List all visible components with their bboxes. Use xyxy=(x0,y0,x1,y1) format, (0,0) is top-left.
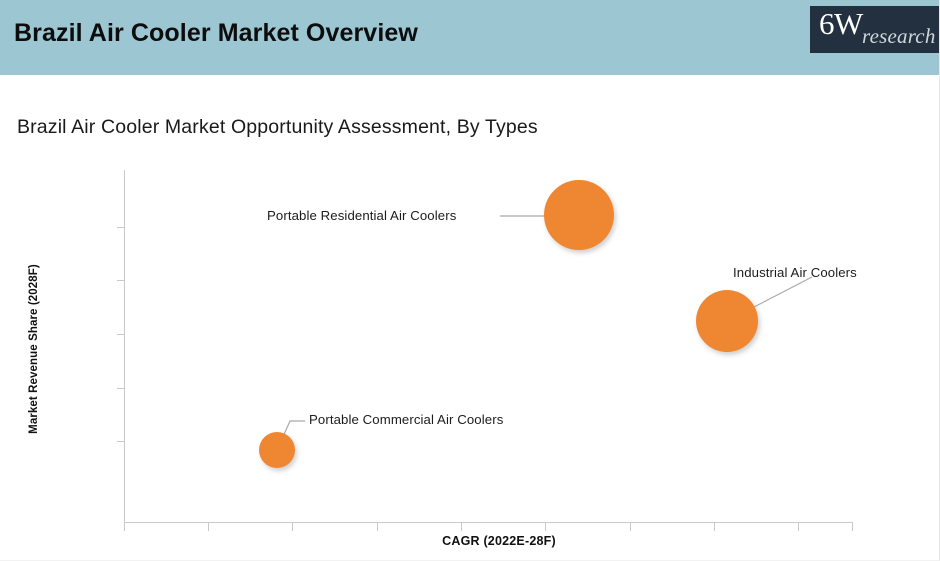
bubble-chart: Portable Residential Air Coolers Industr… xyxy=(0,0,940,561)
x-axis-title: CAGR (2022E-28F) xyxy=(329,534,669,548)
bubble-portable-commercial[interactable] xyxy=(259,432,295,468)
chart-axes-svg xyxy=(0,0,940,561)
y-axis-title: Market Revenue Share (2028F) xyxy=(28,249,40,449)
point-label-portable-commercial: Portable Commercial Air Coolers xyxy=(309,412,503,427)
point-label-industrial: Industrial Air Coolers xyxy=(733,265,857,280)
slide-canvas: Brazil Air Cooler Market Overview 6W res… xyxy=(0,0,940,561)
bubble-portable-residential[interactable] xyxy=(544,180,614,250)
bubble-industrial[interactable] xyxy=(696,290,758,352)
point-label-portable-residential: Portable Residential Air Coolers xyxy=(267,208,456,223)
